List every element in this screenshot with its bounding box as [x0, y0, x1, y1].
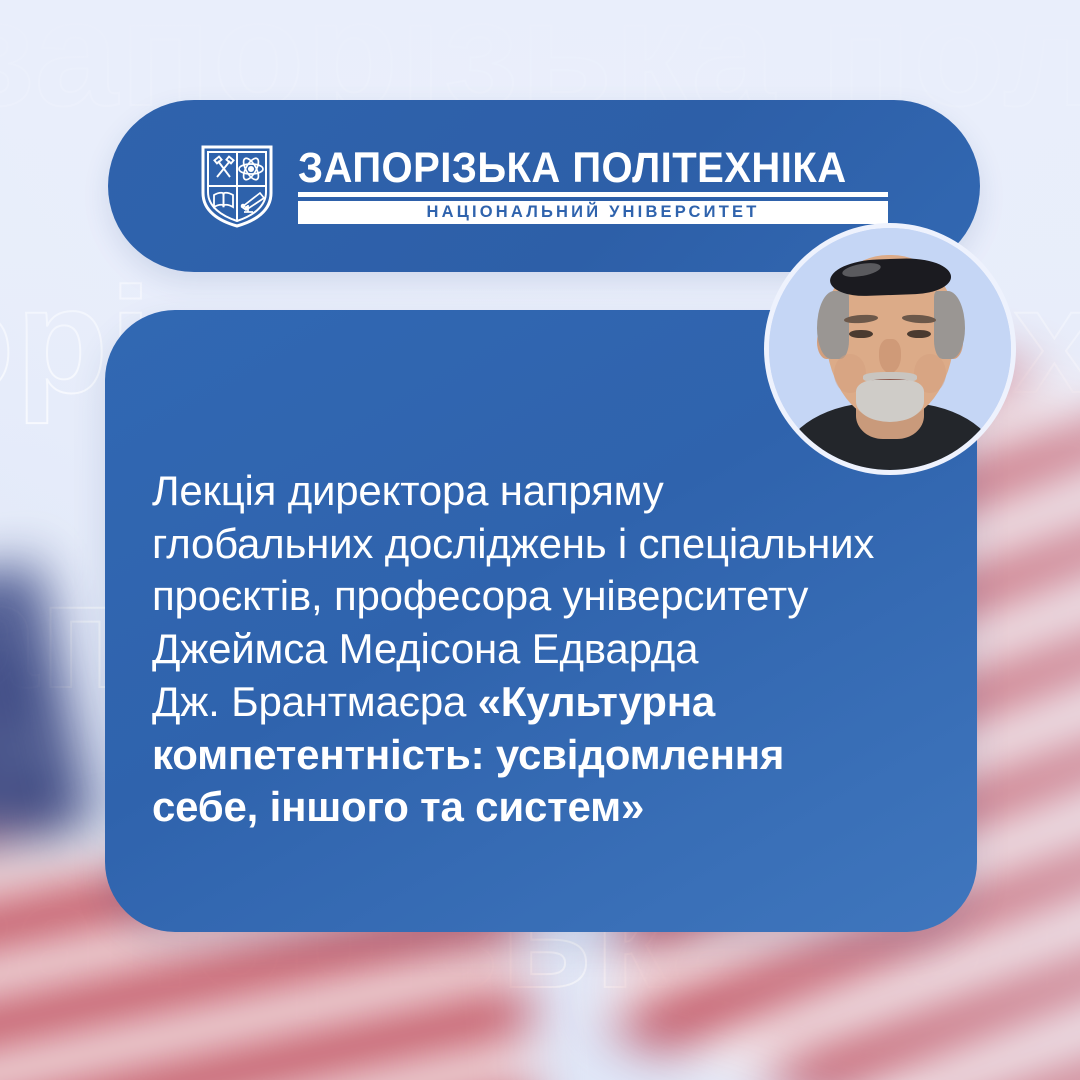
- avatar-clip: [769, 228, 1011, 470]
- lecture-line-5: Дж. Брантмаєра: [152, 678, 478, 725]
- university-name: ЗАПОРІЗЬКА ПОЛІТЕХНІКА: [298, 148, 847, 189]
- photo-nose: [879, 339, 901, 373]
- speaker-photo: [769, 228, 1011, 470]
- lecture-line-4: Джеймса Медісона Едварда: [152, 625, 698, 672]
- atom-icon: [239, 156, 263, 182]
- university-crest-icon: [200, 143, 274, 229]
- telescope-icon: [242, 193, 264, 212]
- photo-goatee: [856, 380, 924, 421]
- photo-hair-right: [934, 291, 965, 359]
- photo-hair-left: [817, 291, 848, 359]
- university-subtitle: НАЦІОНАЛЬНИЙ УНІВЕРСИТЕТ: [426, 204, 759, 221]
- lecture-line-1: Лекція директора напряму: [152, 467, 664, 514]
- university-subtitle-bar: НАЦІОНАЛЬНИЙ УНІВЕРСИТЕТ: [298, 201, 888, 224]
- speaker-avatar: [769, 228, 1011, 470]
- lecture-title-part-3: себе, іншого та систем»: [152, 783, 644, 830]
- lecture-announcement-text: Лекція директора напряму глобальних досл…: [152, 465, 937, 834]
- lecture-title-part-2: компетентність: усвідомлення: [152, 731, 784, 778]
- lecture-line-2: глобальних досліджень і спеціальних: [152, 520, 874, 567]
- lecture-title-part-1: «Культурна: [478, 678, 715, 725]
- open-book-icon: [214, 193, 233, 207]
- lecture-line-3: проєктів, професора університету: [152, 572, 808, 619]
- poster-canvas: запорізька політехніка запорізька політе…: [0, 0, 1080, 1080]
- hammer-and-pick-icon: [214, 157, 233, 177]
- wordmark-divider: [298, 192, 888, 197]
- university-wordmark: ЗАПОРІЗЬКА ПОЛІТЕХНІКА НАЦІОНАЛЬНИЙ УНІВ…: [298, 148, 888, 225]
